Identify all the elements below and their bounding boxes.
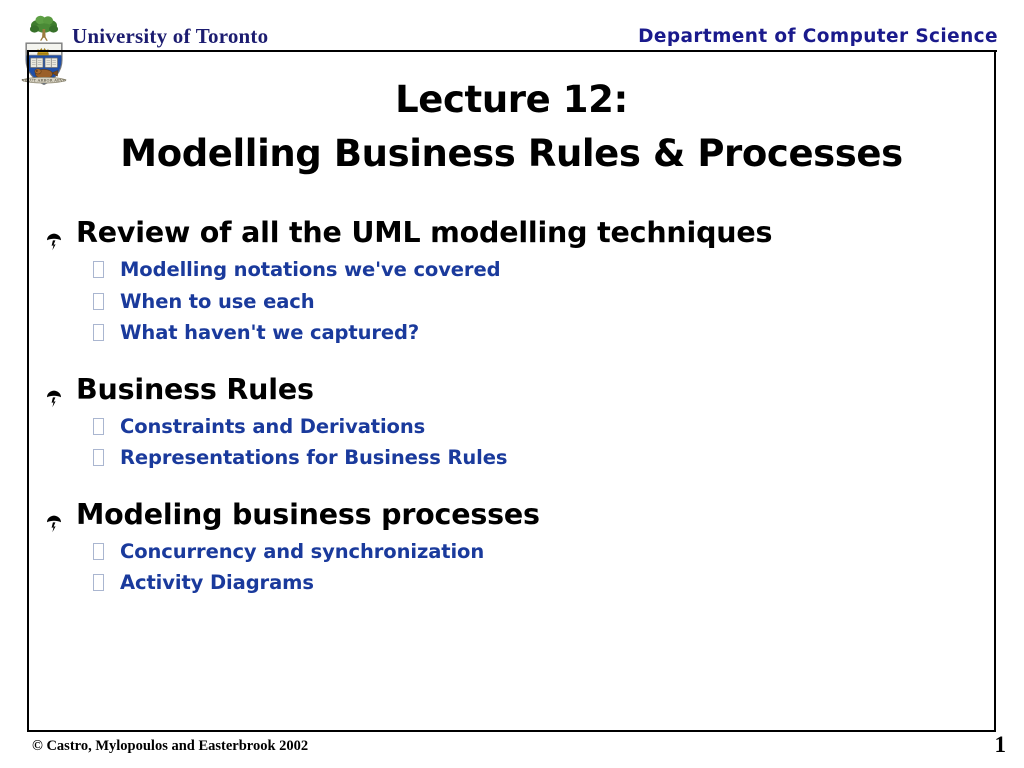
outline-subitem: Constraints and Derivations bbox=[44, 411, 984, 443]
outline-subitem-text: Constraints and Derivations bbox=[120, 415, 425, 438]
mushroom-bullet-icon bbox=[45, 506, 63, 526]
footer-page-number: 1 bbox=[995, 732, 1007, 758]
square-bullet-icon bbox=[93, 261, 104, 278]
mushroom-bullet-icon bbox=[45, 381, 63, 401]
outline-subitem: Modelling notations we've covered bbox=[44, 254, 984, 286]
outline-subitem: Activity Diagrams bbox=[44, 567, 984, 599]
outline-subitem-text: When to use each bbox=[120, 290, 315, 313]
outline-subitem-text: Concurrency and synchronization bbox=[120, 540, 484, 563]
outline-heading: Business Rules bbox=[44, 371, 984, 409]
slide-canvas: VELUT ARBOR AEVO University of Toronto D… bbox=[0, 0, 1024, 768]
department-name: Department of Computer Science bbox=[638, 26, 998, 47]
square-bullet-icon bbox=[93, 574, 104, 591]
outline-group: Review of all the UML modelling techniqu… bbox=[44, 214, 984, 349]
outline-subitem-list: Concurrency and synchronization Activity… bbox=[44, 536, 984, 599]
outline-subitem-text: What haven't we captured? bbox=[120, 321, 419, 344]
outline-heading-text: Business Rules bbox=[76, 373, 314, 406]
square-bullet-icon bbox=[93, 543, 104, 560]
outline-group: Business Rules Constraints and Derivatio… bbox=[44, 371, 984, 474]
outline-subitem-text: Representations for Business Rules bbox=[120, 446, 507, 469]
outline-subitem-text: Activity Diagrams bbox=[120, 571, 314, 594]
footer-copyright: © Castro, Mylopoulos and Easterbrook 200… bbox=[32, 738, 308, 755]
outline-subitem: Representations for Business Rules bbox=[44, 442, 984, 474]
slide-title-line-1: Lecture 12: bbox=[27, 73, 996, 127]
group-spacer bbox=[44, 357, 984, 371]
slide-title-line-2: Modelling Business Rules & Processes bbox=[27, 127, 996, 181]
square-bullet-icon bbox=[93, 449, 104, 466]
outline-heading-text: Review of all the UML modelling techniqu… bbox=[76, 216, 772, 249]
square-bullet-icon bbox=[93, 293, 104, 310]
group-spacer bbox=[44, 482, 984, 496]
outline-list: Review of all the UML modelling techniqu… bbox=[44, 214, 984, 607]
outline-group: Modeling business processes Concurrency … bbox=[44, 496, 984, 599]
square-bullet-icon bbox=[93, 324, 104, 341]
outline-subitem: Concurrency and synchronization bbox=[44, 536, 984, 568]
outline-subitem-list: Modelling notations we've covered When t… bbox=[44, 254, 984, 349]
outline-subitem: When to use each bbox=[44, 286, 984, 318]
outline-subitem: What haven't we captured? bbox=[44, 317, 984, 349]
outline-heading: Review of all the UML modelling techniqu… bbox=[44, 214, 984, 252]
outline-heading: Modeling business processes bbox=[44, 496, 984, 534]
outline-subitem-text: Modelling notations we've covered bbox=[120, 258, 500, 281]
mushroom-bullet-icon bbox=[45, 224, 63, 244]
slide-title: Lecture 12: Modelling Business Rules & P… bbox=[27, 73, 996, 181]
outline-subitem-list: Constraints and Derivations Representati… bbox=[44, 411, 984, 474]
outline-heading-text: Modeling business processes bbox=[76, 498, 540, 531]
university-name: University of Toronto bbox=[72, 24, 268, 49]
square-bullet-icon bbox=[93, 418, 104, 435]
